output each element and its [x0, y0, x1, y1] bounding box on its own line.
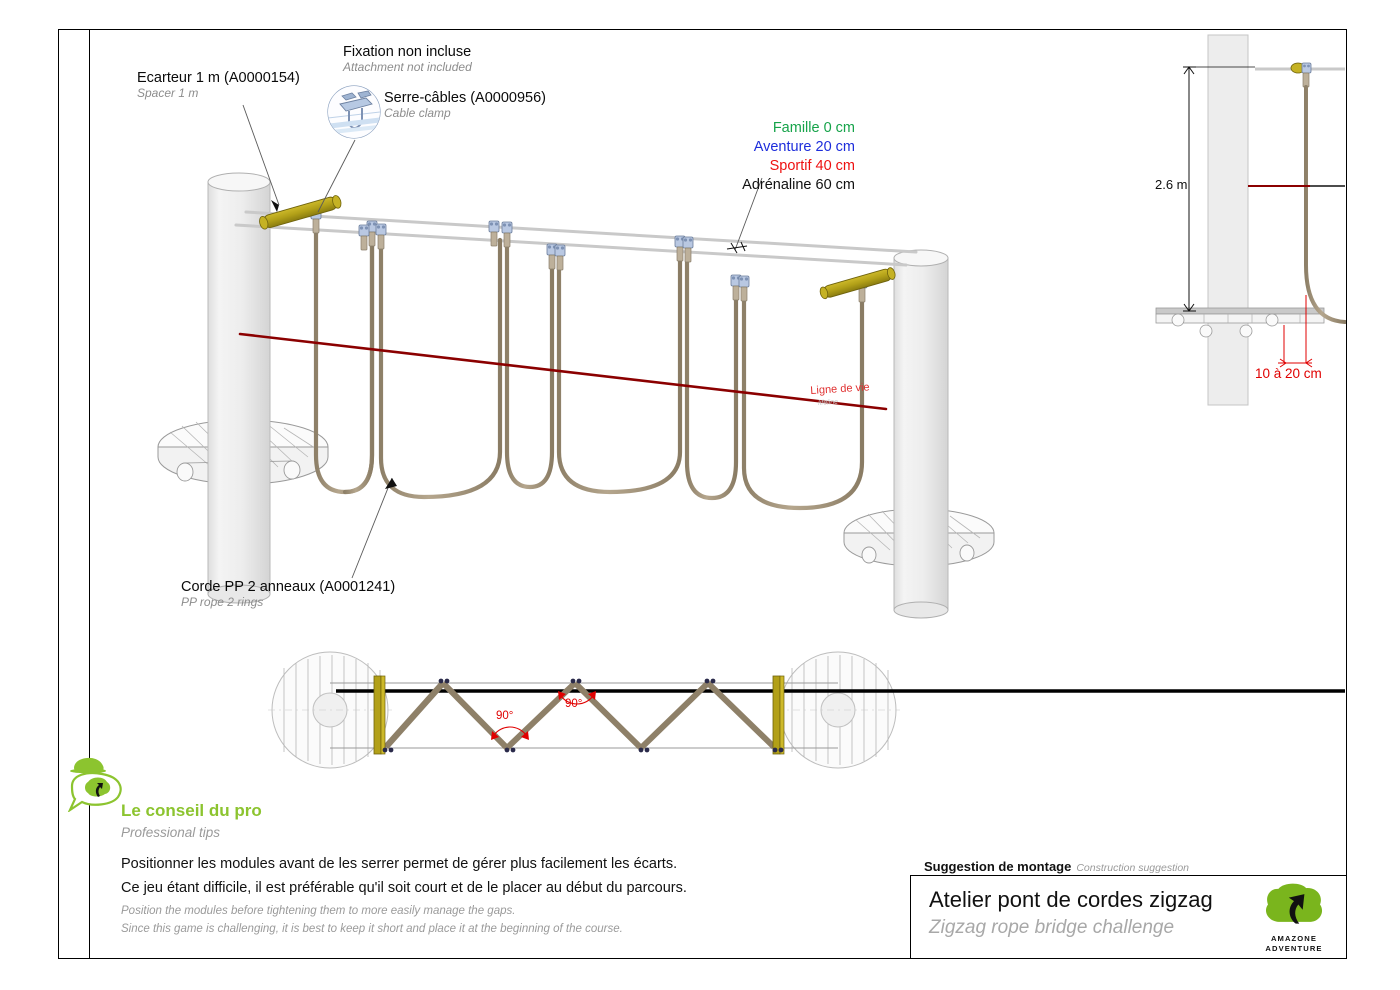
level-sportif: Sportif 40 cm [742, 157, 855, 176]
lifeline-label-fr: Ligne de vie [810, 381, 870, 397]
logo-line-1: AMAZONE [1271, 934, 1317, 943]
title-block: Atelier pont de cordes zigzag Zigzag rop… [910, 875, 1347, 959]
callout-cable-clamp-fr: Serre-câbles (A0000956) [384, 90, 546, 107]
amazone-adventure-logo: AMAZONE ADVENTURE [1252, 882, 1336, 954]
plan-view [268, 652, 1345, 768]
callout-spacer: Ecarteur 1 m (A0000154) Spacer 1 m [137, 70, 300, 100]
callout-pp-rope-en: PP rope 2 rings [181, 596, 395, 610]
right-platform [844, 509, 994, 569]
construction-suggestion-fr: Suggestion de montage [924, 859, 1071, 874]
cable-clamp-pairs [311, 208, 867, 302]
callout-cable-clamp: Serre-câbles (A0000956) Cable clamp [384, 90, 546, 120]
callout-pp-rope-fr: Corde PP 2 anneaux (A0001241) [181, 579, 395, 596]
logo-tree-icon [1252, 882, 1336, 934]
callout-pp-rope: Corde PP 2 anneaux (A0001241) PP rope 2 … [181, 579, 395, 609]
spacer-bar-left [258, 194, 342, 230]
plan-platform-left [268, 652, 392, 768]
drawing-title-en: Zigzag rope bridge challenge [929, 917, 1174, 939]
dimension-10-20cm [1278, 295, 1312, 367]
left-post-assembly [158, 173, 328, 603]
plan-platform-right [776, 652, 900, 768]
right-post-assembly [844, 250, 994, 618]
callout-spacer-en: Spacer 1 m [137, 87, 300, 101]
pro-tip-body-en-2: Since this game is challenging, it is be… [121, 921, 623, 938]
angle-label-b: 90° [565, 698, 582, 710]
logo-wordmark: AMAZONE ADVENTURE [1252, 934, 1336, 953]
plan-zigzag-ropes [383, 683, 777, 748]
technical-drawing-canvas [0, 0, 1400, 990]
logo-line-2: ADVENTURE [1265, 944, 1322, 953]
level-marker [727, 242, 747, 253]
side-platform [1156, 308, 1324, 337]
callout-attachment: Fixation non incluse Attachment not incl… [343, 44, 472, 74]
level-aventure: Aventure 20 cm [742, 138, 855, 157]
page-margin-rule [58, 29, 90, 959]
spacer-bar-right [819, 267, 897, 300]
level-adrenaline: Adrénaline 60 cm [742, 176, 855, 195]
level-famille: Famille 0 cm [742, 119, 855, 138]
drawing-page: © AMAZONE ADVENTURE Ecarteur 1 m (A00001… [0, 0, 1400, 990]
cable-clamp-detail-inset [328, 86, 380, 138]
callout-cable-clamp-en: Cable clamp [384, 107, 546, 121]
dimension-label-post-height: 2.6 m [1155, 177, 1188, 192]
difficulty-levels-legend: Famille 0 cm Aventure 20 cm Sportif 40 c… [742, 119, 855, 194]
pro-tip-subtitle: Professional tips [121, 825, 220, 840]
left-platform [158, 419, 328, 487]
pro-tip-body-fr-1: Positionner les modules avant de les ser… [121, 853, 677, 875]
leader-arrowheads [271, 200, 397, 489]
callout-spacer-fr: Ecarteur 1 m (A0000154) [137, 70, 300, 87]
callout-attachment-en: Attachment not included [343, 61, 472, 75]
construction-suggestion-caption: Suggestion de montageConstruction sugges… [924, 858, 1189, 876]
support-cables [236, 212, 916, 265]
callout-attachment-fr: Fixation non incluse [343, 44, 472, 61]
construction-suggestion-en: Construction suggestion [1076, 862, 1189, 874]
angle-label-a: 90° [496, 710, 513, 722]
pro-tip-body-fr-2: Ce jeu étant difficile, il est préférabl… [121, 877, 687, 899]
drawing-title-fr: Atelier pont de cordes zigzag [929, 887, 1213, 913]
pro-tip-title: Le conseil du pro [121, 801, 262, 821]
dimension-label-ground-clearance: 10 à 20 cm [1255, 366, 1322, 381]
lifeline-label-en: lifeline [818, 399, 838, 407]
side-elevation-view [1156, 35, 1345, 405]
rope-loops [316, 230, 862, 508]
lifeline-cable [240, 334, 886, 409]
plan-node-clamps [383, 679, 784, 753]
callout-leaders [243, 95, 762, 578]
pro-tip-body-en-1: Position the modules before tightening t… [121, 903, 515, 920]
